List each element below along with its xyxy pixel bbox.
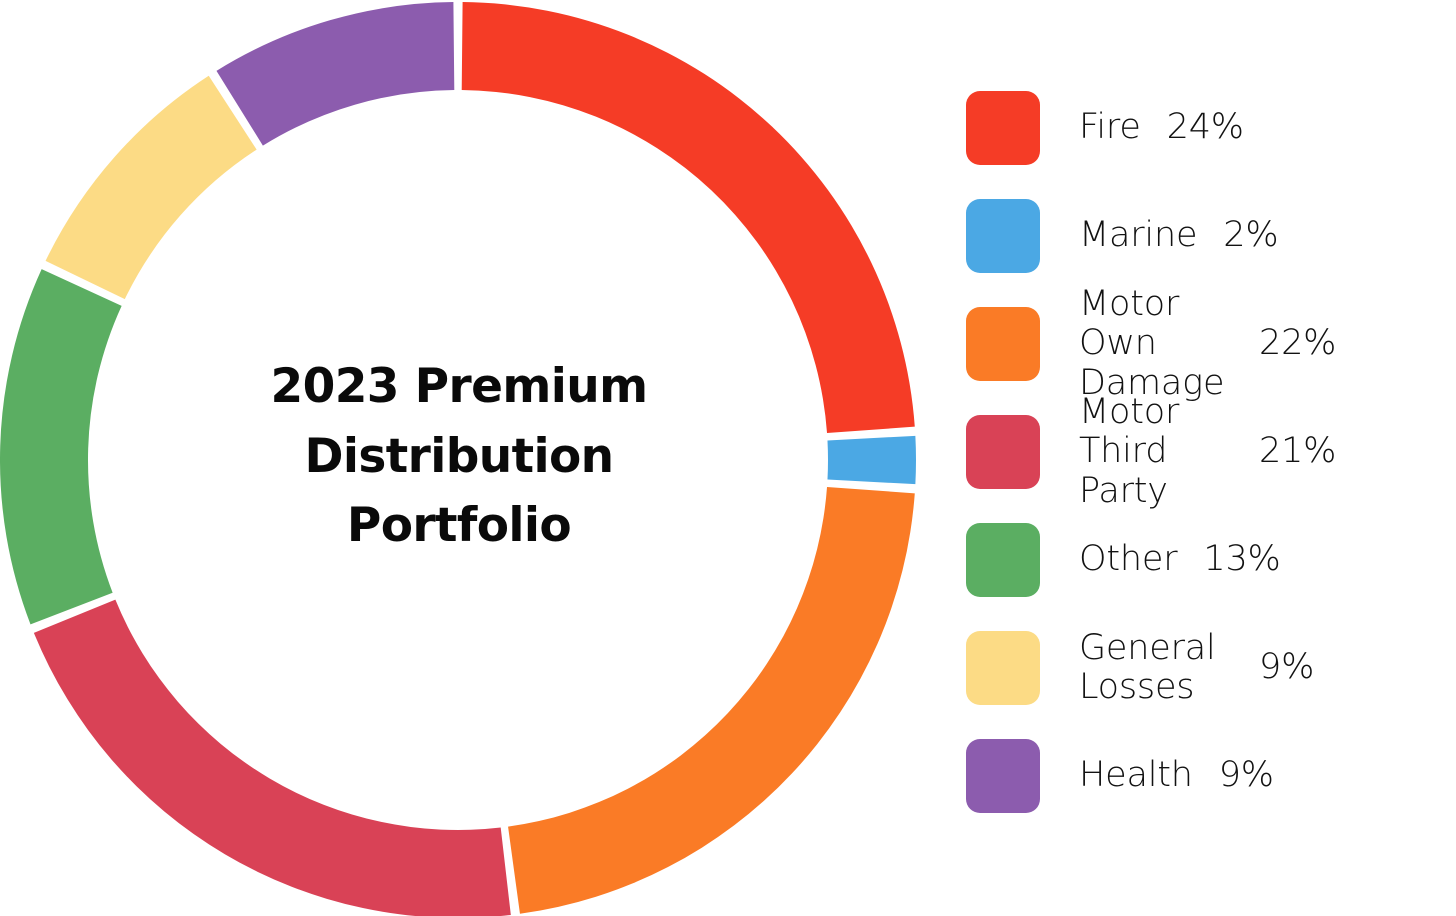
donut-slice[interactable]	[34, 600, 511, 916]
chart-canvas: 2023 Premium Distribution Portfolio Fire…	[0, 0, 1456, 916]
legend-item[interactable]: Motor Own Damage22%	[966, 302, 1336, 386]
legend-color-swatch	[966, 91, 1040, 165]
legend-item[interactable]: Marine2%	[966, 194, 1278, 278]
legend-color-swatch	[966, 307, 1040, 381]
legend-item-value: 2%	[1223, 216, 1278, 255]
legend-item-value: 21%	[1259, 432, 1336, 471]
donut-chart: 2023 Premium Distribution Portfolio	[0, 0, 920, 916]
legend-color-swatch	[966, 739, 1040, 813]
legend-item[interactable]: Motor Third Party21%	[966, 410, 1336, 494]
legend-item[interactable]: Health9%	[966, 734, 1274, 818]
donut-slice[interactable]	[0, 269, 122, 624]
legend-item-label: Health	[1079, 756, 1193, 795]
legend-item-label: Fire	[1079, 108, 1141, 147]
legend-item-value: 13%	[1203, 540, 1280, 579]
legend-item-value: 24%	[1167, 108, 1244, 147]
legend-text-group: Other13%	[1079, 540, 1281, 579]
legend-text-group: Fire24%	[1079, 108, 1244, 147]
legend-item[interactable]: Other13%	[966, 518, 1281, 602]
legend-color-swatch	[966, 415, 1040, 489]
chart-legend: Fire24%Marine2%Motor Own Damage22%Motor …	[966, 86, 1436, 846]
legend-item-label: Motor Third Party	[1079, 393, 1249, 511]
legend-text-group: Motor Own Damage22%	[1079, 285, 1336, 403]
legend-text-group: Motor Third Party21%	[1079, 393, 1336, 511]
legend-item-label: Marine	[1079, 216, 1197, 255]
legend-text-group: Marine2%	[1079, 216, 1278, 255]
legend-item-label: Other	[1079, 540, 1177, 579]
donut-slice[interactable]	[827, 436, 916, 484]
legend-color-swatch	[966, 631, 1040, 705]
legend-item-value: 9%	[1259, 648, 1314, 687]
legend-item-value: 9%	[1219, 756, 1274, 795]
legend-item[interactable]: Fire24%	[966, 86, 1244, 170]
legend-item-label: Motor Own Damage	[1079, 285, 1249, 403]
donut-slice[interactable]	[216, 2, 454, 146]
legend-item-label: General Losses	[1079, 629, 1249, 707]
legend-item-value: 22%	[1259, 324, 1336, 363]
legend-color-swatch	[966, 199, 1040, 273]
chart-center-title: 2023 Premium Distribution Portfolio	[228, 352, 690, 561]
donut-slice[interactable]	[46, 76, 257, 299]
legend-color-swatch	[966, 523, 1040, 597]
legend-text-group: General Losses9%	[1079, 629, 1314, 707]
legend-item[interactable]: General Losses9%	[966, 626, 1314, 710]
legend-text-group: Health9%	[1079, 756, 1274, 795]
